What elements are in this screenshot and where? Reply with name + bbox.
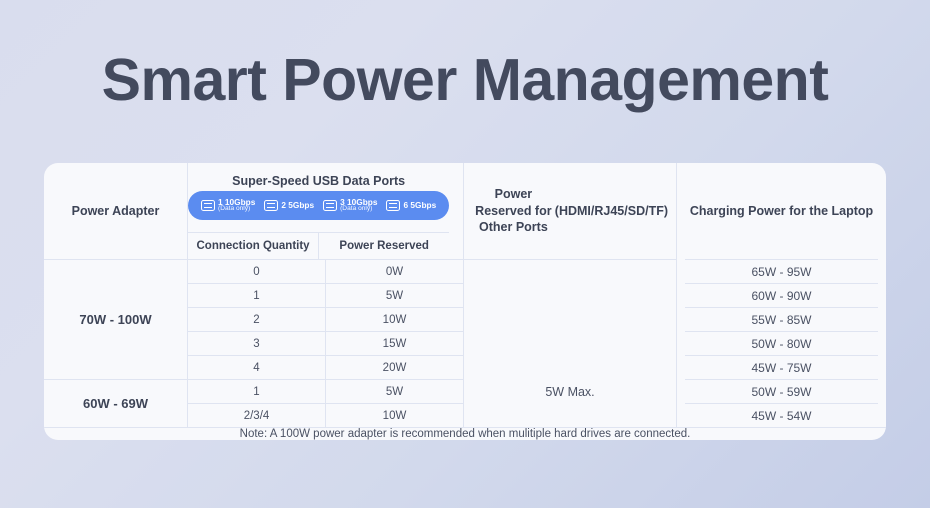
table-row: 0 0W: [188, 259, 463, 283]
power-management-table: Power Adapter 70W - 100W 60W - 69W Super…: [44, 163, 886, 440]
cell-connection-quantity: 1: [188, 380, 326, 403]
usb-port-3: 3 10Gbps (Data only): [323, 198, 377, 214]
column-power-adapter: Power Adapter 70W - 100W 60W - 69W: [44, 163, 188, 427]
usb-port-icon: [386, 200, 400, 211]
cell-power-reserved: 10W: [326, 308, 463, 331]
cell-connection-quantity: 3: [188, 332, 326, 355]
table-row: 1 5W: [188, 379, 463, 403]
adapter-group-70-100: 70W - 100W: [44, 259, 187, 379]
header-power-reserved-other-ports: Power Reserved for Other Ports (HDMI/RJ4…: [464, 163, 676, 259]
cell-charging-power: 60W - 90W: [685, 283, 878, 307]
cell-power-reserved: 15W: [326, 332, 463, 355]
header-connection-quantity: Connection Quantity: [188, 233, 319, 259]
usb-badge-wrap: 1 10Gbps (Data only) 2 5Gbps: [188, 191, 449, 232]
cell-power-reserved: 5W: [326, 284, 463, 307]
cell-charging-power: 50W - 80W: [685, 331, 878, 355]
usb-port-icon: [201, 200, 215, 211]
usb-port-1-text: 1 10Gbps (Data only): [218, 198, 255, 214]
header-power-adapter: Power Adapter: [44, 163, 187, 259]
cell-power-reserved: 5W: [326, 380, 463, 403]
usb-port-1-sublabel: (Data only): [218, 206, 255, 213]
cell-charging-power: 55W - 85W: [685, 307, 878, 331]
adapter-group-60-69: 60W - 69W: [44, 379, 187, 427]
usb-port-3-sublabel: (Data only): [340, 206, 377, 213]
usb-port-2-label: 2 5Gbps: [281, 201, 314, 210]
usb-port-icon: [323, 200, 337, 211]
cell-power-reserved-other-ports-value: 5W Max.: [464, 259, 676, 440]
header-usb-data-ports: Super-Speed USB Data Ports: [188, 163, 449, 191]
charging-power-rows: 65W - 95W 60W - 90W 55W - 85W 50W - 80W …: [677, 259, 886, 440]
usb-subheader-row: Connection Quantity Power Reserved: [188, 232, 449, 259]
cell-charging-power: 45W - 75W: [685, 355, 878, 379]
usb-header-inner: Super-Speed USB Data Ports 1 10Gbps (Dat…: [188, 163, 449, 259]
usb-port-6-text: 6 5Gbps: [403, 201, 436, 210]
cell-charging-power: 45W - 54W: [685, 403, 878, 427]
power-management-table-card: Power Adapter 70W - 100W 60W - 69W Super…: [44, 163, 886, 440]
cell-charging-power: 50W - 59W: [685, 379, 878, 403]
cell-charging-power: 65W - 95W: [685, 259, 878, 283]
cell-power-reserved: 10W: [326, 404, 463, 427]
cell-power-reserved: 0W: [326, 260, 463, 283]
usb-port-2: 2 5Gbps: [264, 200, 314, 211]
cell-connection-quantity: 2/3/4: [188, 404, 326, 427]
charging-header-region: Charging Power for the Laptop: [677, 163, 886, 259]
table-row: 3 15W: [188, 331, 463, 355]
usb-port-2-text: 2 5Gbps: [281, 201, 314, 210]
usb-port-badge-pill: 1 10Gbps (Data only) 2 5Gbps: [188, 191, 449, 220]
usb-port-6-label: 6 5Gbps: [403, 201, 436, 210]
table-row: 2 10W: [188, 307, 463, 331]
header-power-reserved: Power Reserved: [319, 233, 449, 259]
table-row: 1 5W: [188, 283, 463, 307]
column-power-reserved-other-ports: Power Reserved for Other Ports (HDMI/RJ4…: [464, 163, 677, 427]
usb-port-icon: [264, 200, 278, 211]
usb-header-region: Super-Speed USB Data Ports 1 10Gbps (Dat…: [188, 163, 463, 259]
table-row: 4 20W: [188, 355, 463, 379]
usb-port-6: 6 5Gbps: [386, 200, 436, 211]
table-body: Power Adapter 70W - 100W 60W - 69W Super…: [44, 163, 886, 427]
header-line-2: (HDMI/RJ45/SD/TF): [555, 203, 668, 220]
table-row: 2/3/4 10W: [188, 403, 463, 427]
power-adapter-header-region: Power Adapter: [44, 163, 187, 259]
table-footer-note: Note: A 100W power adapter is recommende…: [44, 427, 886, 440]
usb-port-1: 1 10Gbps (Data only): [201, 198, 255, 214]
cell-connection-quantity: 4: [188, 356, 326, 379]
header-line-1: Power Reserved for Other Ports: [472, 186, 555, 237]
usb-port-3-text: 3 10Gbps (Data only): [340, 198, 377, 214]
adapter-group-list: 70W - 100W 60W - 69W: [44, 259, 187, 440]
page-title: Smart Power Management: [0, 0, 930, 110]
cell-power-reserved: 20W: [326, 356, 463, 379]
cell-connection-quantity: 1: [188, 284, 326, 307]
cell-connection-quantity: 2: [188, 308, 326, 331]
reserved-header-region: Power Reserved for Other Ports (HDMI/RJ4…: [464, 163, 676, 259]
column-usb-data-ports: Super-Speed USB Data Ports 1 10Gbps (Dat…: [188, 163, 464, 427]
usb-data-rows: 0 0W 1 5W 2 10W 3 15W: [188, 259, 463, 440]
column-charging-power: Charging Power for the Laptop 65W - 95W …: [677, 163, 886, 427]
header-charging-power: Charging Power for the Laptop: [677, 163, 886, 259]
cell-connection-quantity: 0: [188, 260, 326, 283]
